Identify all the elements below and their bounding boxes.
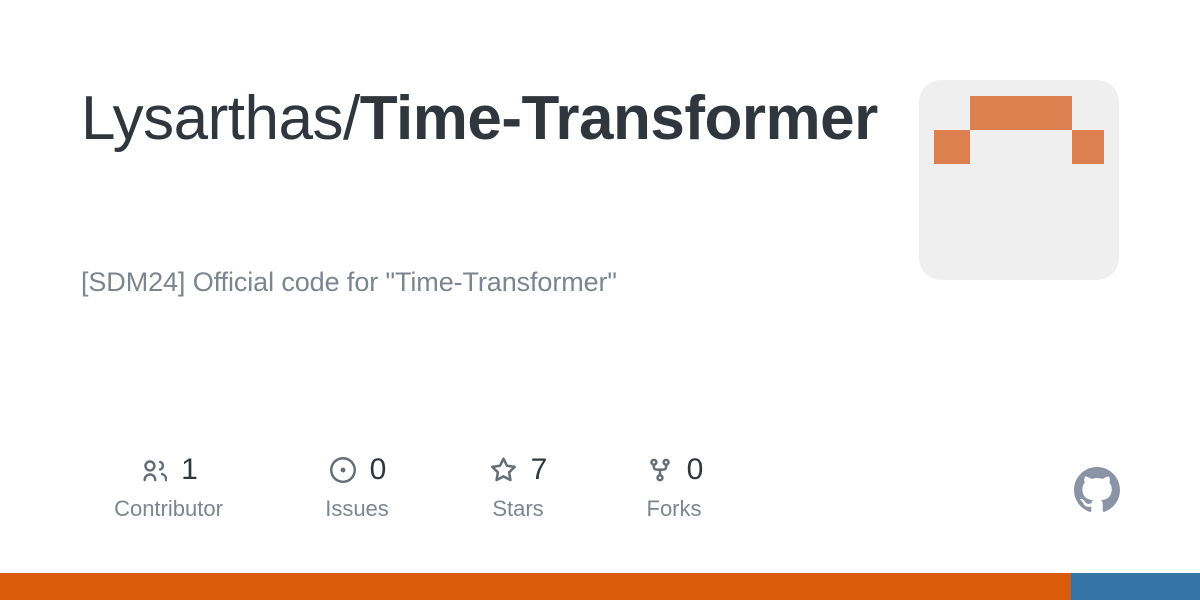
- stat-forks-top: 0: [645, 452, 704, 488]
- language-bar: [0, 573, 1200, 600]
- stat-issues-value: 0: [370, 453, 387, 487]
- stat-stars-top: 7: [489, 452, 548, 488]
- star-icon: [489, 455, 519, 485]
- repo-avatar-bars-icon: [919, 80, 1119, 280]
- repository-name: Time-Transformer: [360, 84, 878, 153]
- repository-stats: 1 Contributor 0 Issues: [81, 452, 734, 522]
- repo-forked-icon: [645, 455, 675, 485]
- stat-contributors-label: Contributor: [114, 496, 223, 522]
- github-mark-icon: [1074, 467, 1120, 513]
- repository-avatar: [919, 80, 1119, 280]
- stat-issues-top: 0: [328, 452, 387, 488]
- stat-forks: 0 Forks: [614, 452, 734, 522]
- stat-forks-label: Forks: [647, 496, 702, 522]
- stat-stars: 7 Stars: [458, 452, 578, 522]
- language-segment-python: [1071, 573, 1200, 600]
- repository-owner: Lysarthas: [81, 84, 343, 153]
- stat-issues-label: Issues: [325, 496, 389, 522]
- stat-stars-value: 7: [531, 453, 548, 487]
- stat-issues: 0 Issues: [292, 452, 422, 522]
- stat-stars-label: Stars: [492, 496, 543, 522]
- issue-opened-icon: [328, 455, 358, 485]
- repository-description: [SDM24] Official code for "Time-Transfor…: [81, 262, 881, 302]
- stat-contributors-value: 1: [181, 453, 198, 487]
- people-icon: [139, 455, 169, 485]
- language-segment-jupyter-notebook: [0, 573, 1071, 600]
- stat-contributors-top: 1: [139, 452, 198, 488]
- repository-social-card: Lysarthas/Time-Transformer [SDM24] Offic…: [0, 0, 1200, 600]
- title-separator: /: [343, 84, 360, 153]
- stat-forks-value: 0: [687, 453, 704, 487]
- page-title: Lysarthas/Time-Transformer: [81, 83, 881, 155]
- stat-contributors: 1 Contributor: [81, 452, 256, 522]
